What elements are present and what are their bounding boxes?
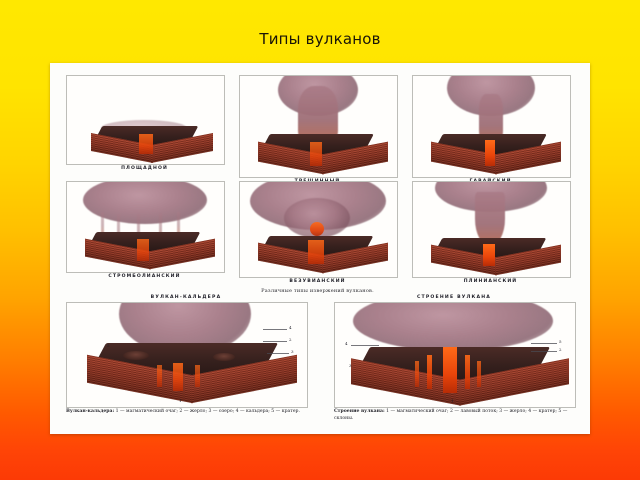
panel-plinianskiy xyxy=(412,181,571,278)
legend-title-vulkan-kaldera: Вулкан-кальдера: xyxy=(66,409,114,414)
illustration-ploshchadnoy xyxy=(67,76,224,164)
callout-1: 1 xyxy=(179,398,182,403)
legend-title-stroenie-vulkana: Строение вулкана: xyxy=(334,409,385,414)
illustration-gavayskiy xyxy=(413,76,570,177)
panel-vezuvianskiy xyxy=(239,181,398,278)
panel-ploshchadnoy xyxy=(66,75,225,165)
eruption-types-caption: Различные типы извержений вулканов. xyxy=(239,288,396,294)
figure-heading-vulkan-kaldera: ВУЛКАН-КАЛЬДЕРА xyxy=(66,295,306,300)
panel-label-ploshchadnoy: ПЛОЩАДНОЙ xyxy=(66,166,223,171)
legend-text-vulkan-kaldera: 1 — магматический очаг; 2 — жерло; 3 — о… xyxy=(116,409,300,414)
page-title: Типы вулканов xyxy=(0,30,640,48)
page-inner: ПЛОЩАДНОЙ ТРЕЩИННЫЙ xyxy=(58,69,582,428)
illustration-plinianskiy xyxy=(413,182,570,277)
scanned-page-card: ПЛОЩАДНОЙ ТРЕЩИННЫЙ xyxy=(50,63,590,434)
callout-2: 2 xyxy=(289,337,292,342)
illustration-treshchinnyy xyxy=(240,76,397,177)
panel-label-plinianskiy: ПЛИНИАНСКИЙ xyxy=(412,279,569,284)
slide-root: Типы вулканов ПЛОЩАДНОЙ xyxy=(0,0,640,480)
panel-label-strombolianskiy: СТРОМБОЛИАНСКИЙ xyxy=(66,274,223,279)
illustration-strombolianskiy xyxy=(67,182,224,272)
callout-5: 5 xyxy=(107,343,110,348)
callout-5: 5 xyxy=(559,339,562,344)
illustration-stroenie-vulkana: 4 5 2 3 1 xyxy=(335,303,575,407)
callout-1: 1 xyxy=(451,398,454,403)
callout-3: 3 xyxy=(291,349,294,354)
illustration-vezuvianskiy xyxy=(240,182,397,277)
panel-label-vezuvianskiy: ВЕЗУВИАНСКИЙ xyxy=(239,279,396,284)
figure-heading-stroenie-vulkana: СТРОЕНИЕ ВУЛКАНА xyxy=(334,295,574,300)
panel-gavayskiy xyxy=(412,75,571,178)
callout-4: 4 xyxy=(289,325,292,330)
panel-treshchinnyy xyxy=(239,75,398,178)
callout-3: 3 xyxy=(349,363,352,368)
figure-legend-vulkan-kaldera: Вулкан-кальдера: 1 — магматический очаг;… xyxy=(66,409,306,416)
figure-legend-stroenie-vulkana: Строение вулкана: 1 — магматический очаг… xyxy=(334,409,574,423)
callout-2: 2 xyxy=(559,347,562,352)
panel-strombolianskiy xyxy=(66,181,225,273)
illustration-vulkan-kaldera: 4 2 3 5 1 xyxy=(67,303,307,407)
panel-vulkan-kaldera: 4 2 3 5 1 xyxy=(66,302,308,408)
panel-stroenie-vulkana: 4 5 2 3 1 xyxy=(334,302,576,408)
callout-4: 4 xyxy=(345,341,348,346)
